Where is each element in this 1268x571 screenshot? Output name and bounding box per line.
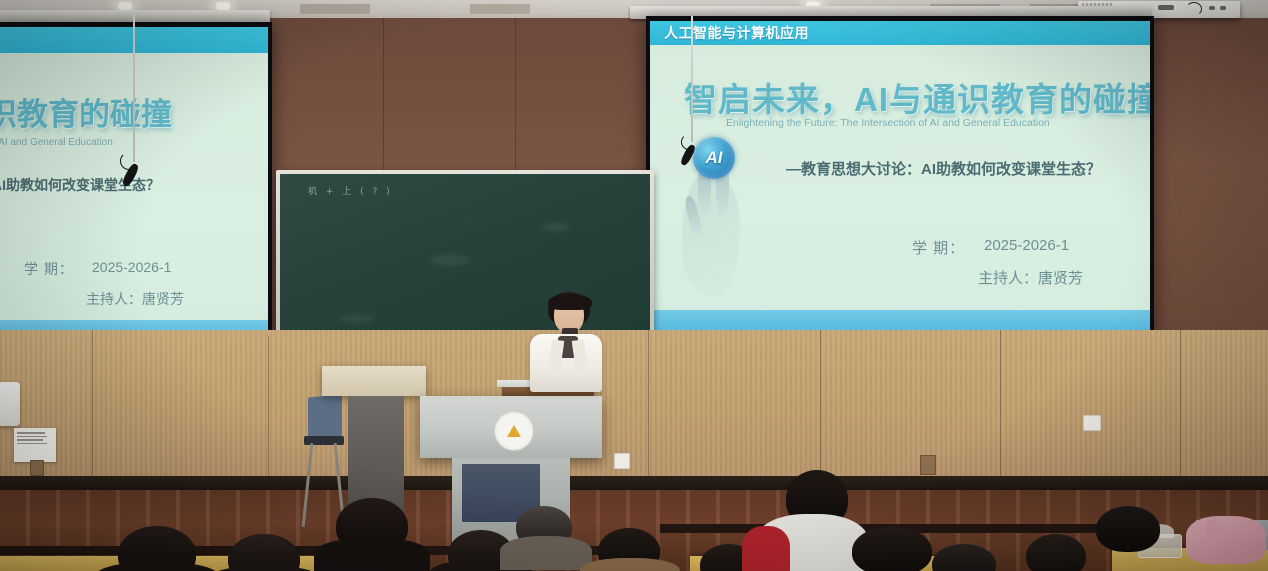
audience-shoulders	[742, 526, 790, 571]
audience-shoulders	[500, 536, 592, 570]
audience-head	[1096, 506, 1160, 552]
lecture-hall-photo: 与通识教育的碰撞 ntersection of AI and General E…	[0, 0, 1268, 571]
wall-seam	[820, 330, 821, 490]
wall-switch-plate	[614, 453, 630, 469]
slide-host-right: 主持人：唐贤芳	[978, 267, 1083, 288]
wall-seam	[1000, 330, 1001, 490]
slide-right: 人工智能与计算机应用 智启未来，AI与通识教育的碰撞 Enlightening …	[650, 21, 1150, 336]
slide-banner-text: 人工智能与计算机应用	[664, 23, 809, 43]
speaker-hair-top	[548, 294, 592, 310]
wall-mounted-unit	[0, 382, 20, 426]
slide-subtitle-left: ntersection of AI and General Education	[0, 137, 113, 148]
notice-line	[17, 436, 47, 438]
wall-seam	[268, 336, 269, 490]
ceiling-vent	[470, 4, 530, 14]
wall-switch-plate	[1083, 415, 1101, 431]
audience-shoulders	[314, 538, 430, 571]
slide-host-left: 主持人：唐贤芳	[86, 289, 184, 309]
baseboard	[0, 476, 1268, 490]
wall-outlet	[920, 455, 936, 475]
ai-badge-icon: AI	[693, 137, 735, 179]
slide-title-left: 与通识教育的碰撞	[0, 89, 172, 134]
chalk-smudge	[340, 314, 374, 323]
audience-head	[852, 526, 932, 571]
slide-topic-right: —教育思想大讨论：AI助教如何改变课堂生态？	[786, 158, 1101, 179]
projector-lens-icon	[1158, 5, 1174, 10]
microphone-cable-left	[133, 0, 135, 162]
projection-screen-left: 与通识教育的碰撞 ntersection of AI and General E…	[0, 22, 272, 348]
slide-title-right: 智启未来，AI与通识教育的碰撞	[684, 73, 1150, 121]
backpack-strap	[1206, 520, 1218, 540]
paper-notice	[14, 428, 56, 462]
crest-triangle-icon	[507, 425, 521, 437]
ceiling-light	[216, 2, 230, 10]
projector-lens-icon	[1220, 6, 1226, 10]
audience-head	[1026, 534, 1086, 571]
ceiling-light	[118, 2, 132, 10]
slide-term-label-right: 学 期：	[912, 237, 965, 258]
ceiling-vent	[300, 4, 370, 14]
chalk-smudge	[430, 254, 470, 266]
pink-backpack	[1186, 516, 1266, 564]
microphone-cable-right	[691, 16, 693, 142]
slide-topic-left: 讨论：AI助教如何改变课堂生态？	[0, 175, 160, 195]
projector-cable	[1186, 2, 1202, 16]
wooden-lectern	[322, 366, 426, 396]
slide-term-value-left: 2025-2026-1	[92, 259, 171, 275]
notice-line	[17, 432, 45, 434]
chalk-smudge	[542, 222, 570, 232]
slide-term-label-left: 学 期：	[24, 259, 74, 279]
wall-seam	[92, 330, 93, 490]
lower-wall	[0, 330, 1268, 490]
projection-screen-right: 人工智能与计算机应用 智启未来，AI与通识教育的碰撞 Enlightening …	[646, 16, 1154, 342]
wall-seam	[648, 330, 649, 490]
robot-hand-graphic	[682, 171, 740, 296]
slide-banner-right: 人工智能与计算机应用	[650, 21, 1150, 45]
ai-badge-text: AI	[706, 148, 723, 168]
notice-line	[17, 443, 47, 445]
chalk-writing: 机 + 上 ( ? )	[308, 184, 393, 197]
university-crest	[494, 411, 534, 451]
projector-lens-icon	[1209, 6, 1215, 10]
notice-line	[17, 439, 43, 441]
slide-term-value-right: 2025-2026-1	[984, 237, 1069, 254]
slide-subtitle-right: Enlightening the Future: The Intersectio…	[726, 117, 1050, 129]
wall-seam	[1180, 330, 1181, 490]
wall-outlet	[30, 460, 44, 476]
